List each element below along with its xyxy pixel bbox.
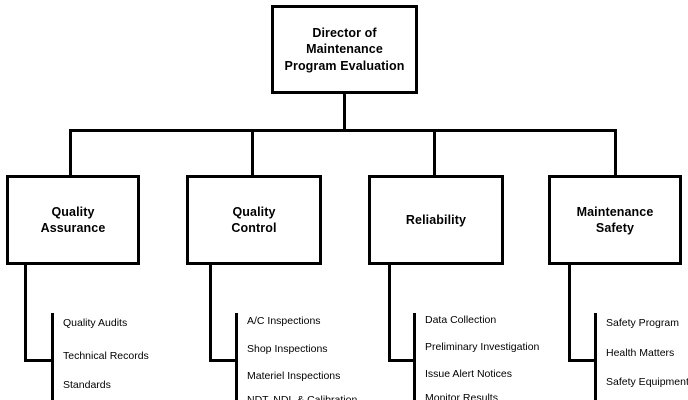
node-director-of-maintenance-program-evaluation[interactable]: Director of Maintenance Program Evaluati…	[271, 5, 418, 94]
node-label: Maintenance Safety	[577, 204, 654, 237]
connector-drop-branch-1	[251, 129, 254, 177]
leaf-item[interactable]: Safety Equipment	[606, 377, 688, 388]
node-label: Quality Assurance	[41, 204, 106, 237]
connector-branch-0-spine	[51, 313, 54, 400]
leaf-item[interactable]: Health Matters	[606, 348, 674, 359]
connector-branch-0-foot	[24, 359, 54, 362]
connector-branch-3-stem	[568, 265, 571, 362]
node-quality-assurance[interactable]: Quality Assurance	[6, 175, 140, 265]
leaf-item[interactable]: Standards	[63, 380, 111, 391]
connector-branch-1-foot	[209, 359, 238, 362]
node-label: Director of Maintenance Program Evaluati…	[285, 25, 405, 74]
connector-branch-2-stem	[388, 265, 391, 362]
leaf-item[interactable]: Data Collection	[425, 315, 496, 326]
org-chart: Director of Maintenance Program Evaluati…	[0, 0, 688, 400]
connector-branch-2-foot	[388, 359, 416, 362]
leaf-item[interactable]: Safety Program	[606, 318, 679, 329]
leaf-item[interactable]: A/C Inspections	[247, 316, 321, 327]
connector-distribution-bar	[69, 129, 617, 132]
connector-root-stem	[343, 94, 346, 131]
leaf-item[interactable]: Monitor Results	[425, 393, 498, 400]
leaf-item[interactable]: Issue Alert Notices	[425, 369, 512, 380]
leaf-item[interactable]: Quality Audits	[63, 318, 127, 329]
connector-branch-1-stem	[209, 265, 212, 362]
leaf-item[interactable]: NDT, NDI, & Calibration	[247, 395, 357, 400]
connector-branch-3-spine	[594, 313, 597, 400]
leaf-item[interactable]: Preliminary Investigation	[425, 342, 539, 353]
connector-drop-branch-3	[614, 129, 617, 177]
connector-drop-branch-2	[433, 129, 436, 177]
node-reliability[interactable]: Reliability	[368, 175, 504, 265]
connector-drop-branch-0	[69, 129, 72, 177]
leaf-item[interactable]: Shop Inspections	[247, 344, 328, 355]
node-label: Quality Control	[231, 204, 276, 237]
connector-branch-0-stem	[24, 265, 27, 362]
node-quality-control[interactable]: Quality Control	[186, 175, 322, 265]
leaf-item[interactable]: Materiel Inspections	[247, 371, 340, 382]
node-label: Reliability	[406, 212, 466, 228]
node-maintenance-safety[interactable]: Maintenance Safety	[548, 175, 682, 265]
leaf-item[interactable]: Technical Records	[63, 351, 149, 362]
connector-branch-1-spine	[235, 313, 238, 400]
connector-branch-3-foot	[568, 359, 597, 362]
connector-branch-2-spine	[413, 313, 416, 400]
